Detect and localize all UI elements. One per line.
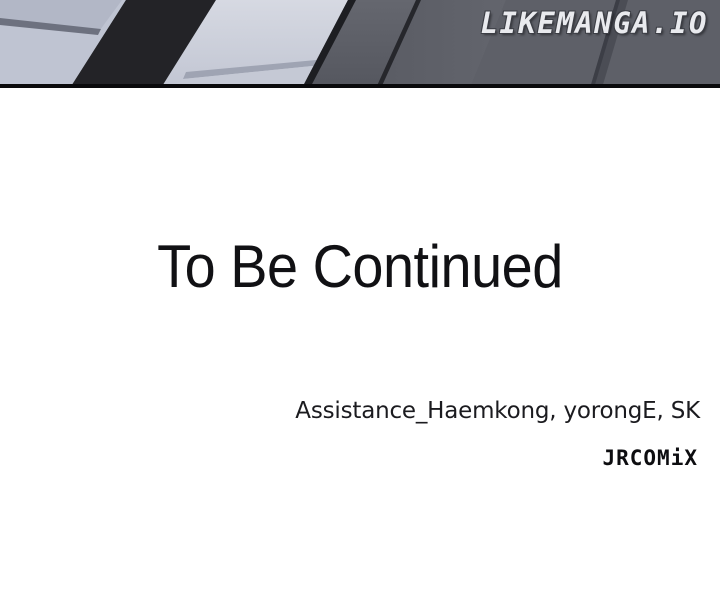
likemanga-watermark: LIKEMANGA.IO	[480, 6, 708, 40]
page-title: To Be Continued	[25, 232, 695, 301]
comic-page: LIKEMANGA.IO To Be Continued Assistance_…	[0, 0, 720, 593]
studio-logo: JRCOMiX	[602, 446, 698, 470]
comic-art-strip: LIKEMANGA.IO	[0, 0, 720, 88]
credits-line: Assistance_Haemkong, yorongE, SK	[295, 398, 700, 424]
page-content: To Be Continued Assistance_Haemkong, yor…	[0, 88, 720, 593]
